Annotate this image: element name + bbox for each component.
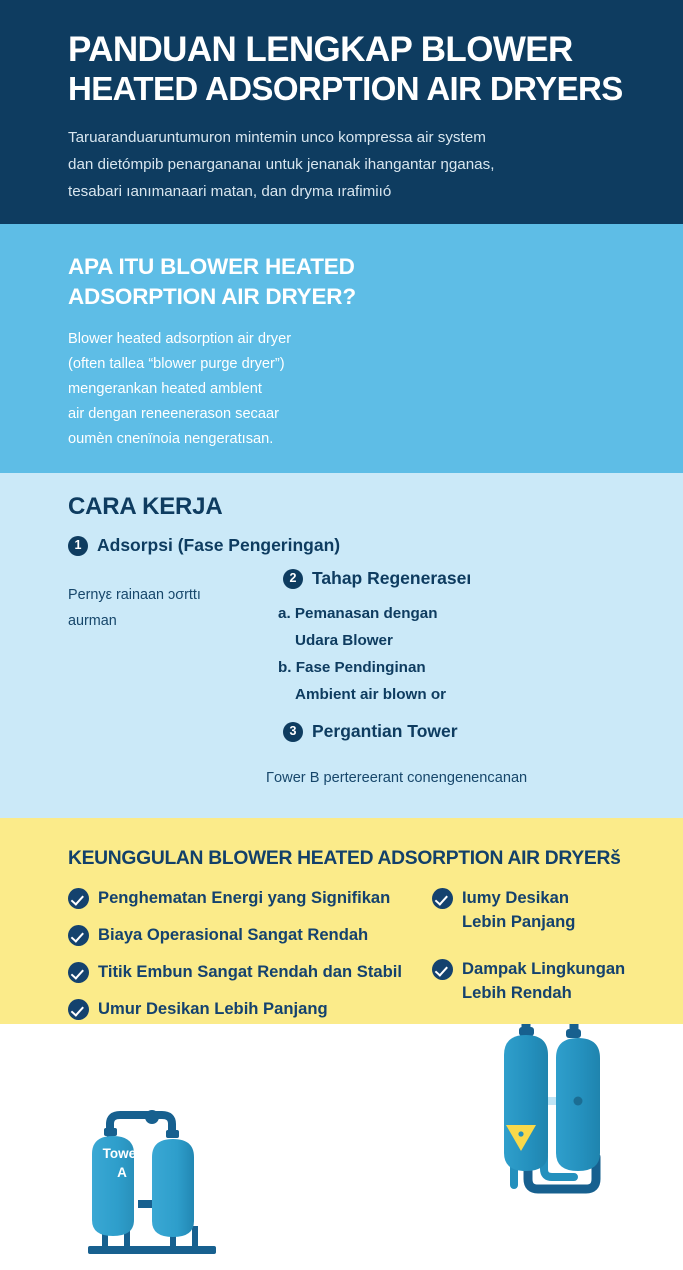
check-circle-icon [68, 888, 89, 909]
about-section: APA ITU BLOWER HEATED ADSORPTION AIR DRY… [0, 224, 683, 473]
regeneration-towers-illustration [492, 997, 632, 1212]
list-item: Umur Desikan Lebih Panjang [68, 997, 433, 1021]
benefit-label: Umur Desikan Lebih Panjang [98, 997, 328, 1021]
benefit-label-line2: Lebih Rendah [462, 981, 625, 1005]
step-3-title: Pergantian Tower [312, 721, 458, 742]
tower-a-tank [92, 1136, 134, 1236]
about-body-line3: mengerankan heated amblent [68, 377, 378, 402]
tower-a-illustration: Tower A [80, 1100, 240, 1270]
step-1: 1 Adsorpsi (Fase Pengeringan) [68, 535, 340, 556]
about-body-line1: Blower heated adsorption air dryer [68, 327, 378, 352]
benefits-heading: KEUNGGULAN BLOWER HEATED ADSORPTION AIR … [68, 848, 621, 870]
step-3-body: Γower B pertereerant conengenencanan [266, 770, 666, 786]
step-2a-line1: a. Pemanasan dengan [278, 600, 478, 627]
benefit-label: Biaya Operasional Sangat Rendah [98, 923, 368, 947]
benefit-label-line2: Lebin Panjang [462, 910, 575, 934]
step-2-number: 2 [283, 569, 303, 589]
header-subtitle-line1: Taruaranduaruntumuron mintemin unco komp… [68, 124, 621, 151]
step-2b-line1: b. Fase Pendinginan [278, 654, 478, 681]
check-circle-icon [432, 888, 453, 909]
step-2-title: Tahap Regeneraseı [312, 568, 471, 589]
header-subtitle-line2: dan dietómpib penargananaı untuk jenanak… [68, 151, 621, 178]
benefit-label: Penghematan Energi yang Signifikan [98, 886, 390, 910]
step-1-title: Adsorpsi (Fase Pengeringan) [97, 535, 340, 556]
page-title-line1: PANDUAN LENGKAP BLOWER [68, 30, 621, 69]
step-2: 2 Tahap Regeneraseı [283, 568, 471, 589]
valve-node [145, 1110, 159, 1124]
header-section: PANDUAN LENGKAP BLOWER HEATED ADSORPTION… [0, 0, 683, 224]
benefit-label: Iumy Desikan Lebin Panjang [462, 886, 575, 934]
about-body-line5: oumèn cnenïnoia nengeratısan. [68, 427, 378, 452]
list-item: Biaya Operasional Sangat Rendah [68, 923, 433, 947]
check-circle-icon [432, 959, 453, 980]
benefit-label: Titik Embun Sangat Rendah dan Stabil [98, 960, 402, 984]
header-subtitle: Taruaranduaruntumuron mintemin unco komp… [68, 124, 621, 205]
about-body-line2: (often tallea “blower purge dryer”) [68, 352, 378, 377]
about-heading: APA ITU BLOWER HEATED ADSORPTION AIR DRY… [68, 252, 378, 312]
step-2-body: a. Pemanasan dengan Udara Blower b. Fase… [278, 600, 478, 708]
header-subtitle-line3: tesabari ıanımanaari matan, dan dryma ır… [68, 178, 621, 205]
step-1-body-line2: aurman [68, 608, 278, 634]
port-dot [574, 1097, 583, 1106]
about-text-block: APA ITU BLOWER HEATED ADSORPTION AIR DRY… [68, 252, 378, 452]
check-circle-icon [68, 999, 89, 1020]
list-item: Titik Embun Sangat Rendah dan Stabil [68, 960, 433, 984]
check-circle-icon [68, 925, 89, 946]
left-tower [504, 1035, 548, 1171]
benefits-section: KEUNGGULAN BLOWER HEATED ADSORPTION AIR … [0, 818, 683, 1024]
how-it-works-section: CARA KERJA 1 Adsorpsi (Fase Pengeringan)… [0, 473, 683, 818]
benefits-list-right: Iumy Desikan Lebin Panjang Dampak Lingku… [432, 886, 672, 1028]
benefits-list-left: Penghematan Energi yang Signifikan Biaya… [68, 886, 433, 1034]
infographic-poster: PANDUAN LENGKAP BLOWER HEATED ADSORPTION… [0, 0, 683, 1024]
how-heading: CARA KERJA [68, 493, 222, 521]
step-1-number: 1 [68, 536, 88, 556]
step-3-number: 3 [283, 722, 303, 742]
tower-a-svg [80, 1100, 240, 1265]
benefit-label-line1: Dampak Lingkungan [462, 959, 625, 978]
benefit-label: Dampak Lingkungan Lebih Rendah [462, 957, 625, 1005]
list-item: Iumy Desikan Lebin Panjang [432, 886, 672, 934]
about-heading-line1: APA ITU BLOWER HEATED [68, 252, 378, 282]
regeneration-towers-svg [492, 997, 632, 1207]
page-title-line2: HEATED ADSORPTION AIR DRYERS [68, 69, 621, 108]
about-heading-line2: ADSORPTION AIR DRYER? [68, 282, 378, 312]
tower-b-tank [152, 1139, 194, 1237]
step-3: 3 Pergantian Tower [283, 721, 458, 742]
about-body-line4: air dengan reneenerason secaar [68, 402, 378, 427]
about-body: Blower heated adsorption air dryer (ofte… [68, 327, 378, 452]
step-1-body-line1: Pernyε rainaan ɔσrttı [68, 582, 278, 608]
step-1-body: Pernyε rainaan ɔσrttı aurman [68, 582, 278, 634]
check-circle-icon [68, 962, 89, 983]
list-item: Penghematan Energi yang Signifikan [68, 886, 433, 910]
step-2b-line2: Ambient air blown or [278, 681, 478, 708]
list-item: Dampak Lingkungan Lebih Rendah [432, 957, 672, 1005]
benefit-label-line1: Iumy Desikan [462, 888, 569, 907]
step-2a-line2: Udara Blower [278, 627, 478, 654]
